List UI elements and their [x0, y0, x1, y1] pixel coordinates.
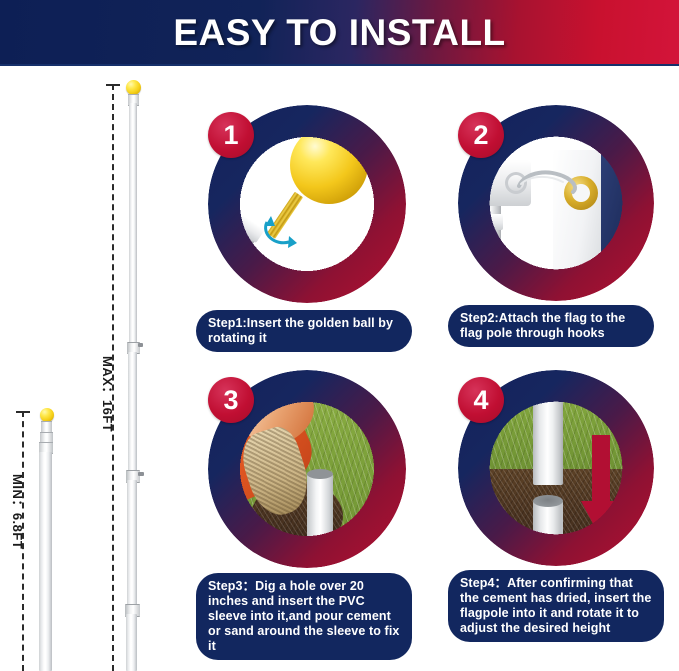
step-caption-4: Step4：After confirming that the cement h…: [448, 570, 664, 642]
step-badge-4: 4: [458, 377, 504, 423]
max-height-label: MAX：16FT: [99, 356, 118, 432]
gold-ball-finial-collapsed: [40, 408, 54, 422]
pole-collar-lower: [471, 214, 503, 230]
pole-section-2: [128, 352, 137, 474]
gold-ball-finial-extended: [126, 80, 141, 95]
step-badge-3: 3: [208, 377, 254, 423]
pole-section-4: [126, 614, 137, 671]
pole-clip-2: [138, 472, 144, 476]
step-card-1: 1 Step1:Insert the golden ball by rotati…: [196, 100, 418, 350]
step-badge-1: 1: [208, 112, 254, 158]
collapsed-pole-body: [39, 452, 52, 671]
banner-title: EASY TO INSTALL: [0, 0, 679, 66]
min-height-label: MIN：6.8FT: [9, 474, 28, 549]
step-card-4: 4 Step4：After confirming that the cement…: [448, 365, 670, 635]
pole-section-1: [129, 103, 137, 346]
pole-section-3: [127, 480, 137, 607]
flag-fabric: [601, 148, 651, 268]
buried-pvc-sleeve: [533, 501, 563, 563]
step-card-2: 2 Step2:Attach the flag to the flag pole…: [448, 100, 670, 350]
insert-direction-arrow-icon: [579, 435, 623, 541]
rotation-arrow-icon: [259, 212, 309, 256]
step-caption-3: Step3：Dig a hole over 20 inches and inse…: [196, 573, 412, 660]
step-badge-2: 2: [458, 112, 504, 158]
snap-hook-icon: [515, 166, 585, 200]
header-banner: EASY TO INSTALL: [0, 0, 679, 66]
flagpole-inserting: [533, 373, 563, 485]
pole-diagram: MAX：16FT MIN：6.8FT: [0, 66, 186, 671]
pvc-sleeve-opening: [307, 469, 333, 479]
pvc-sleeve: [307, 473, 333, 549]
step-card-3: 3 Step3：Dig a hole over 20 inches and in…: [196, 365, 418, 635]
sleeve-opening: [533, 495, 563, 507]
pole-clip-1: [138, 343, 143, 347]
golden-ball: [290, 126, 368, 204]
step-caption-1: Step1:Insert the golden ball by rotating…: [196, 310, 412, 352]
step-caption-2: Step2:Attach the flag to the flag pole t…: [448, 305, 654, 347]
